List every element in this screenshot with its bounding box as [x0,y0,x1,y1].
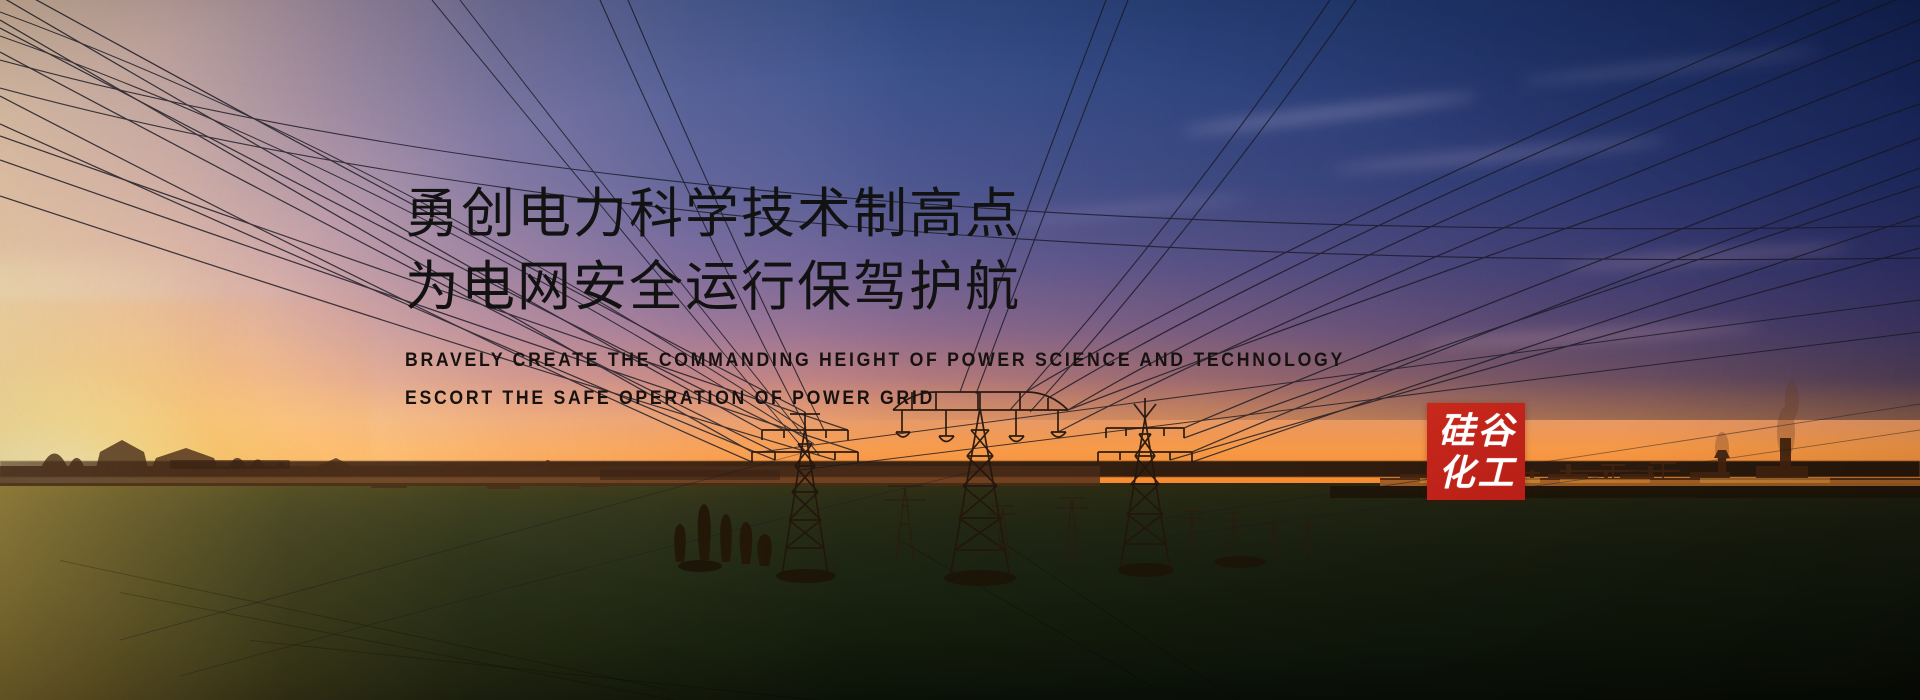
company-seal[interactable]: 硅 谷 化 工 [1427,403,1525,500]
seal-char: 化 [1438,452,1474,494]
seal-row-bottom: 化 工 [1438,452,1513,494]
subheadline-line-2: ESCORT THE SAFE OPERATION OF POWER GRID [405,380,1345,418]
subheadline-line-1: BRAVELY CREATE THE COMMANDING HEIGHT OF … [405,342,1345,380]
seal-char: 谷 [1478,410,1514,452]
seal-char: 工 [1478,452,1514,494]
subheadline-block: BRAVELY CREATE THE COMMANDING HEIGHT OF … [405,342,1416,418]
text-block: 勇创电力科学技术制高点 为电网安全运行保驾护航 BRAVELY CREATE T… [405,178,1416,418]
headline-line-2: 为电网安全运行保驾护航 [405,251,1416,324]
seal-row-top: 硅 谷 [1438,410,1513,452]
headline-line-1: 勇创电力科学技术制高点 [405,178,1416,251]
farm-field [0,483,1920,700]
seal-char: 硅 [1438,410,1474,452]
hero-banner: 勇创电力科学技术制高点 为电网安全运行保驾护航 BRAVELY CREATE T… [0,0,1920,700]
